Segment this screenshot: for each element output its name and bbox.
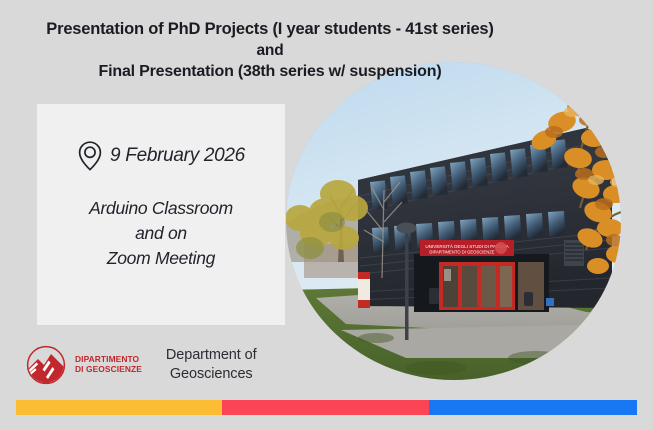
geosciences-logo-icon [24, 345, 68, 385]
map-pin-icon [77, 140, 103, 172]
title-line-2: and [0, 41, 540, 61]
department-line-2: Geosciences [166, 365, 257, 384]
department-line-1: Department of [166, 346, 257, 365]
event-date: 9 February 2026 [110, 145, 245, 167]
accent-color-bar [16, 400, 637, 415]
event-info-card: 9 February 2026 Arduino Classroom and on… [37, 104, 285, 325]
event-venue: Arduino Classroom and on Zoom Meeting [37, 196, 285, 271]
venue-line-1: Arduino Classroom [37, 196, 285, 221]
building-photo: UNIVERSITÀ DEGLI STUDI DI PADOVA DIPARTI… [286, 62, 621, 380]
svg-text:DIPARTIMENTO DI GEOSCIENZE: DIPARTIMENTO DI GEOSCIENZE [429, 250, 494, 255]
color-bar-segment-blue [429, 400, 637, 415]
logo-wordmark: DIPARTIMENTO DI GEOSCIENZE [75, 355, 142, 375]
footer: DIPARTIMENTO DI GEOSCIENZE Department of… [24, 345, 257, 385]
color-bar-segment-yellow [16, 400, 222, 415]
poster-title: Presentation of PhD Projects (I year stu… [0, 19, 540, 82]
venue-line-2: and on [37, 221, 285, 246]
venue-line-3: Zoom Meeting [37, 246, 285, 271]
department-label: Department of Geosciences [166, 346, 257, 383]
title-line-1: Presentation of PhD Projects (I year stu… [0, 19, 540, 41]
color-bar-segment-red [222, 400, 429, 415]
date-row: 9 February 2026 [37, 140, 285, 172]
department-logo: DIPARTIMENTO DI GEOSCIENZE [24, 345, 142, 385]
title-line-3: Final Presentation (38th series w/ suspe… [0, 61, 540, 82]
logo-line-2: DI GEOSCIENZE [75, 365, 142, 375]
